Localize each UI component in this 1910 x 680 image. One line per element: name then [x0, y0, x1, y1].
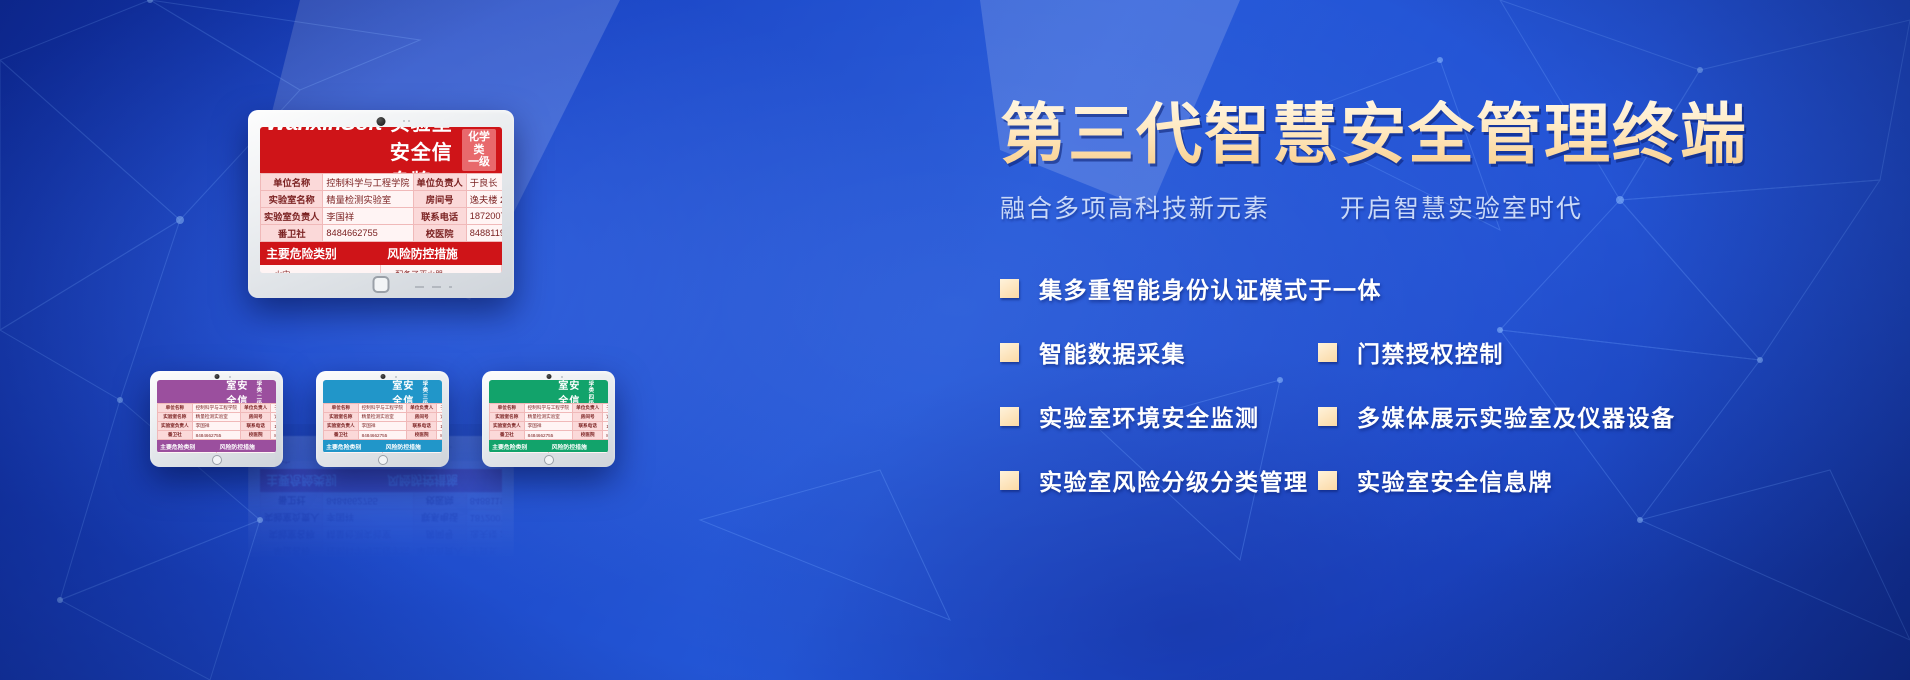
feature-item: 多媒体展示实验室及仪器设备	[1318, 399, 1676, 433]
small-tablet-screen-2[interactable]: WanxinSoft实验室安全信息牌化学类三级单位名称控制科学与工程学院单位负责…	[323, 380, 442, 453]
info-label: 联系电话	[407, 422, 437, 431]
info-value: 逸夫楼 203	[271, 413, 276, 422]
measure-section-title: 风险防控措施	[217, 440, 277, 452]
info-label: 单位名称	[324, 404, 359, 413]
measure-list: 配备了灭火器无人时关闭门窗、断水断电安装了烟雾报警器、喷淋装置危险气体存放、使用…	[387, 269, 494, 273]
section-bodies: 火灾漏电高压电危险气体（H2、CH4、NO、CO2等）使用引发的窒息、爆炸、中毒…	[157, 452, 276, 453]
table-row: 单位名称控制科学与工程学院单位负责人于良长	[158, 404, 277, 413]
front-camera-icon	[377, 117, 386, 126]
list-item: 配备了灭火器	[387, 269, 494, 273]
info-value: 于良长	[271, 404, 276, 413]
feature-label: 门禁授权控制	[1357, 335, 1504, 369]
info-value: 18720071900	[466, 208, 502, 225]
list-item: 火灾	[266, 269, 373, 273]
front-camera-icon	[380, 374, 385, 379]
measure-section-title: 风险防控措施	[549, 440, 609, 452]
bullet-square-icon	[1318, 471, 1337, 490]
sensor-dots	[403, 120, 410, 122]
info-value: 18720071900	[603, 422, 608, 431]
section-headers: 主要危险类别风险防控措施	[260, 242, 502, 265]
info-value: 控制科学与工程学院	[192, 404, 240, 413]
info-label: 单位名称	[158, 404, 193, 413]
info-label: 番卫社	[490, 431, 525, 440]
badge-category: 化学类	[587, 380, 596, 395]
sensor-dots	[229, 376, 231, 378]
info-value: 控制科学与工程学院	[358, 404, 406, 413]
home-button[interactable]	[378, 455, 388, 465]
page-subtitle: 融合多项高科技新元素 开启智慧实验室时代	[1000, 189, 1880, 225]
info-label: 实验室名称	[261, 191, 323, 208]
table-row: 实验室名称精量检测实验室房间号逸夫楼 203	[261, 191, 503, 208]
info-label: 单位名称	[490, 404, 525, 413]
badge-level: 一级	[468, 156, 490, 169]
feature-item: 实验室风险分级分类管理	[1000, 463, 1318, 497]
bullet-square-icon	[1000, 279, 1019, 298]
brand-logo: WanxinSoft	[266, 127, 382, 136]
info-label: 单位负责人	[573, 404, 603, 413]
hazard-section-title: 主要危险类别	[157, 440, 217, 452]
table-row: 单位名称控制科学与工程学院单位负责人于良长	[324, 404, 443, 413]
info-value: 控制科学与工程学院	[524, 404, 572, 413]
measure-section-title: 风险防控措施	[381, 242, 502, 265]
info-value: 精量检测实验室	[323, 191, 413, 208]
section-headers: 主要危险类别风险防控措施	[157, 440, 276, 452]
info-value: 8484662755	[358, 431, 406, 440]
info-label: 单位名称	[261, 174, 323, 191]
hazard-section-title: 主要危险类别	[323, 440, 383, 452]
small-tablet-screen-1[interactable]: WanxinSoft实验室安全信息牌化学类二级单位名称控制科学与工程学院单位负责…	[157, 380, 276, 453]
small-tablet-device-3: WanxinSoft实验室安全信息牌化学类四级单位名称控制科学与工程学院单位负责…	[482, 371, 615, 467]
feature-label: 智能数据采集	[1039, 335, 1186, 369]
bullet-square-icon	[1000, 471, 1019, 490]
info-label: 实验室名称	[158, 413, 193, 422]
feature-item: 实验室安全信息牌	[1318, 463, 1553, 497]
section-headers: 主要危险类别风险防控措施	[489, 440, 608, 452]
info-label: 校医院	[413, 225, 466, 242]
feature-item: 智能数据采集	[1000, 335, 1318, 369]
info-label: 番卫社	[261, 225, 323, 242]
feature-item: 集多重智能身份认证模式于一体	[1000, 271, 1318, 305]
info-label: 实验室负责人	[490, 422, 525, 431]
hazard-section-title: 主要危险类别	[489, 440, 549, 452]
info-label: 实验室名称	[324, 413, 359, 422]
table-row: 单位名称控制科学与工程学院单位负责人于良长	[490, 404, 609, 413]
measure-section-title: 风险防控措施	[383, 440, 443, 452]
info-value: 逸夫楼 203	[437, 413, 442, 422]
feature-list: 集多重智能身份认证模式于一体 智能数据采集 门禁授权控制 实验室环境安全监测	[1000, 271, 1880, 497]
info-label: 联系电话	[241, 422, 271, 431]
lab-info-table: 单位名称控制科学与工程学院单位负责人于良长实验室名称精量检测实验室房间号逸夫楼 …	[260, 173, 502, 242]
info-label: 单位负责人	[407, 404, 437, 413]
info-value: 李国祥	[524, 422, 572, 431]
sensor-dots	[395, 376, 397, 378]
table-row: 实验室负责人李国祥联系电话18720071900	[158, 422, 277, 431]
bullet-square-icon	[1318, 407, 1337, 426]
feature-row: 智能数据采集 门禁授权控制	[1000, 335, 1880, 369]
section-bodies: 火灾漏电高压电危险气体（H2、CH4、NO、CO2等）使用引发的窒息、爆炸、中毒…	[489, 452, 608, 453]
small-tablet-screen-3[interactable]: WanxinSoft实验室安全信息牌化学类四级单位名称控制科学与工程学院单位负责…	[489, 380, 608, 453]
info-value: 8484662755	[323, 225, 413, 242]
badge-category: 化学类	[468, 131, 490, 156]
info-value: 李国祥	[358, 422, 406, 431]
table-row: 番卫社8484662755校医院84881190	[324, 431, 443, 440]
info-value: 精量检测实验室	[358, 413, 406, 422]
info-label: 单位负责人	[241, 404, 271, 413]
info-label: 番卫社	[324, 431, 359, 440]
subtitle-left: 融合多项高科技新元素	[1000, 195, 1270, 223]
info-label: 单位负责人	[413, 174, 466, 191]
bullet-square-icon	[1000, 343, 1019, 362]
feature-row: 实验室风险分级分类管理 实验室安全信息牌	[1000, 463, 1880, 497]
info-value: 84881190	[437, 431, 442, 440]
info-value: 8484662755	[192, 431, 240, 440]
feature-label: 多媒体展示实验室及仪器设备	[1357, 399, 1676, 433]
feature-label: 集多重智能身份认证模式于一体	[1039, 271, 1382, 305]
feature-label: 实验室安全信息牌	[1357, 463, 1553, 497]
hazard-section-title: 主要危险类别	[260, 242, 381, 265]
info-value: 于良长	[437, 404, 442, 413]
info-value: 李国祥	[192, 422, 240, 431]
info-label: 实验室负责人	[324, 422, 359, 431]
feature-item: 门禁授权控制	[1318, 335, 1504, 369]
table-row: 单位名称控制科学与工程学院单位负责人于良长	[261, 174, 503, 191]
marketing-copy: 第三代智慧安全管理终端 融合多项高科技新元素 开启智慧实验室时代 集多重智能身份…	[1000, 100, 1880, 527]
bullet-square-icon	[1000, 407, 1019, 426]
section-headers: 主要危险类别风险防控措施	[323, 440, 442, 452]
info-value: 于良长	[466, 174, 502, 191]
board-header: WanxinSoft实验室安全信息牌化学类二级	[157, 380, 276, 403]
board-header: WanxinSoft实验室安全信息牌化学类四级	[489, 380, 608, 403]
lab-info-table: 单位名称控制科学与工程学院单位负责人于良长实验室名称精量检测实验室房间号逸夫楼 …	[489, 403, 608, 440]
promo-banner: WanxinSoft实验室安全信息牌化学类一级单位名称控制科学与工程学院单位负责…	[0, 0, 1910, 680]
info-value: 精量检测实验室	[192, 413, 240, 422]
home-button[interactable]	[544, 455, 554, 465]
lab-info-table: 单位名称控制科学与工程学院单位负责人于良长实验室名称精量检测实验室房间号逸夫楼 …	[323, 403, 442, 440]
table-row: 实验室名称精量检测实验室房间号逸夫楼 203	[490, 413, 609, 422]
table-row: 实验室负责人李国祥联系电话18720071900	[490, 422, 609, 431]
info-label: 房间号	[407, 413, 437, 422]
info-value: 精量检测实验室	[524, 413, 572, 422]
info-label: 实验室名称	[490, 413, 525, 422]
info-label: 实验室负责人	[158, 422, 193, 431]
info-label: 联系电话	[573, 422, 603, 431]
feature-label: 实验室风险分级分类管理	[1039, 463, 1309, 497]
badge-category: 化学类	[421, 380, 430, 395]
feature-row: 实验室环境安全监测 多媒体展示实验室及仪器设备	[1000, 399, 1880, 433]
info-value: 84881190	[603, 431, 608, 440]
home-button[interactable]	[212, 455, 222, 465]
table-row: 实验室名称精量检测实验室房间号逸夫楼 203	[158, 413, 277, 422]
info-value: 李国祥	[323, 208, 413, 225]
info-value: 84881190	[271, 431, 276, 440]
page-title: 第三代智慧安全管理终端	[1000, 100, 1880, 169]
main-tablet-screen[interactable]: WanxinSoft实验室安全信息牌化学类一级单位名称控制科学与工程学院单位负责…	[260, 127, 502, 273]
info-label: 校医院	[241, 431, 271, 440]
front-camera-icon	[214, 374, 219, 379]
lab-info-table: 单位名称控制科学与工程学院单位负责人于良长实验室名称精量检测实验室房间号逸夫楼 …	[157, 403, 276, 440]
bullet-square-icon	[1318, 343, 1337, 362]
subtitle-right: 开启智慧实验室时代	[1340, 195, 1583, 223]
info-value: 于良长	[603, 404, 608, 413]
info-label: 番卫社	[158, 431, 193, 440]
section-bodies: 火灾漏电高压电危险气体（H2、CH4、NO、CO2等）使用引发的窒息、爆炸、中毒…	[323, 452, 442, 453]
feature-item: 实验室环境安全监测	[1000, 399, 1318, 433]
board-header: WanxinSoft实验室安全信息牌化学类一级	[260, 127, 502, 173]
section-bodies: 火灾漏电高压电危险气体（H2、CH4、NO、CO2等）使用引发的窒息、爆炸、中毒…	[260, 265, 502, 273]
sensor-dots	[561, 376, 563, 378]
table-row: 实验室负责人李国祥联系电话18720071900	[324, 422, 443, 431]
info-label: 房间号	[573, 413, 603, 422]
info-label: 校医院	[573, 431, 603, 440]
small-tablet-device-1: WanxinSoft实验室安全信息牌化学类二级单位名称控制科学与工程学院单位负责…	[150, 371, 283, 467]
info-label: 校医院	[407, 431, 437, 440]
feature-label: 实验室环境安全监测	[1039, 399, 1260, 433]
badge-category: 化学类	[255, 380, 264, 395]
info-value: 控制科学与工程学院	[323, 174, 413, 191]
info-label: 房间号	[241, 413, 271, 422]
info-label: 房间号	[413, 191, 466, 208]
info-value: 逸夫楼 203	[603, 413, 608, 422]
info-value: 18720071900	[437, 422, 442, 431]
table-row: 实验室名称精量检测实验室房间号逸夫楼 203	[324, 413, 443, 422]
table-row: 番卫社8484662755校医院84881190	[158, 431, 277, 440]
table-row: 番卫社8484662755校医院84881190	[490, 431, 609, 440]
feature-row: 集多重智能身份认证模式于一体	[1000, 271, 1880, 305]
table-row: 实验室负责人李国祥联系电话18720071900	[261, 208, 503, 225]
info-value: 18720071900	[271, 422, 276, 431]
bezel-markings	[415, 286, 452, 288]
info-value: 84881190	[466, 225, 502, 242]
small-tablet-device-2: WanxinSoft实验室安全信息牌化学类三级单位名称控制科学与工程学院单位负责…	[316, 371, 449, 467]
main-tablet-device: WanxinSoft实验室安全信息牌化学类一级单位名称控制科学与工程学院单位负责…	[248, 110, 514, 298]
board-header: WanxinSoft实验室安全信息牌化学类三级	[323, 380, 442, 403]
info-label: 实验室负责人	[261, 208, 323, 225]
table-row: 番卫社8484662755校医院84881190	[261, 225, 503, 242]
info-label: 联系电话	[413, 208, 466, 225]
risk-level-badge: 化学类一级	[462, 129, 496, 171]
info-value: 逸夫楼 203	[466, 191, 502, 208]
info-value: 8484662755	[524, 431, 572, 440]
home-button[interactable]	[373, 276, 390, 293]
hazard-list: 火灾漏电高压电危险气体（H2、CH4、NO、CO2等）使用引发的窒息、爆炸、中毒…	[266, 269, 373, 273]
front-camera-icon	[546, 374, 551, 379]
